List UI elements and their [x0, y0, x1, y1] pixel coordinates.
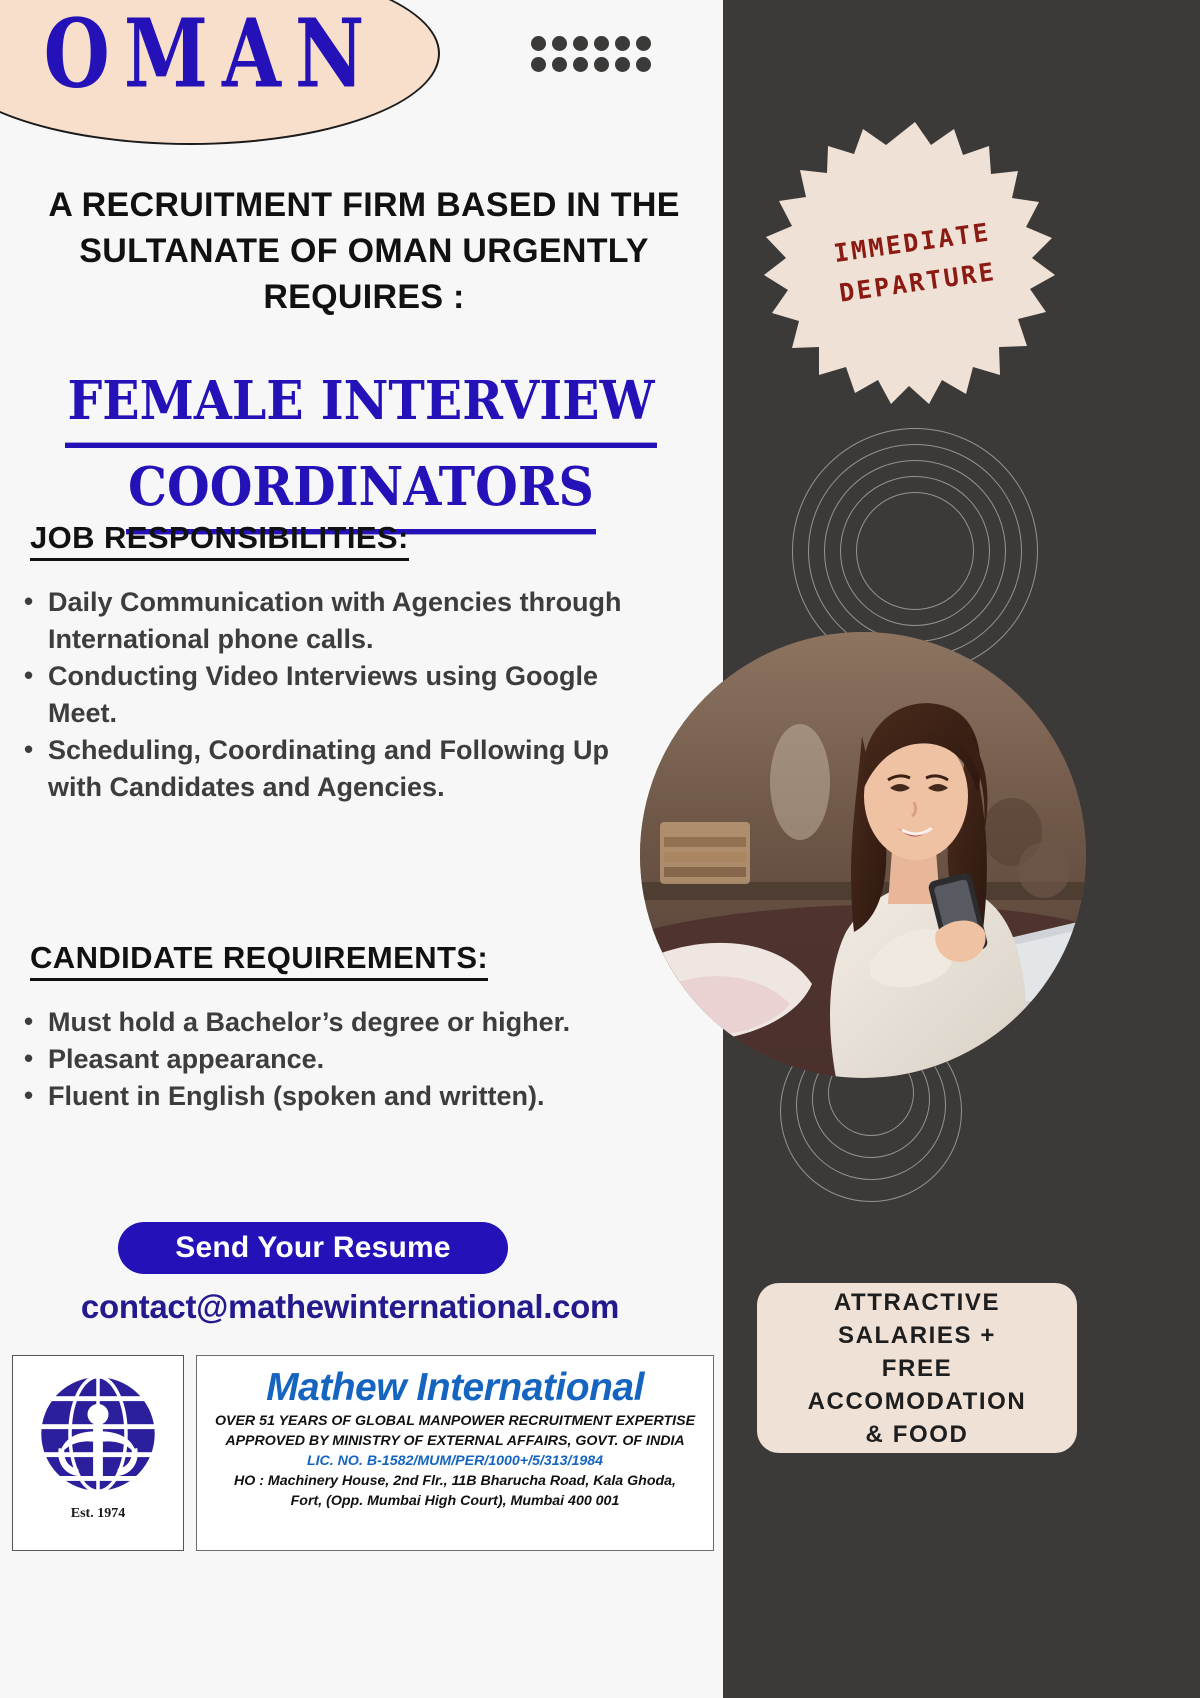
send-resume-button[interactable]: Send Your Resume	[118, 1222, 508, 1274]
list-item: Conducting Video Interviews using Google…	[20, 658, 640, 732]
list-item: Daily Communication with Agencies throug…	[20, 584, 640, 658]
dot	[636, 36, 651, 51]
salary-line-1: ATTRACTIVE	[808, 1286, 1027, 1319]
immediate-departure-text: IMMEDIATE DEPARTURE	[741, 98, 1088, 428]
immediate-departure-badge: IMMEDIATE DEPARTURE	[760, 118, 1070, 408]
requirements-list: Must hold a Bachelor’s degree or higher.…	[20, 1004, 640, 1115]
dot	[615, 36, 630, 51]
dot	[573, 36, 588, 51]
company-tagline: OVER 51 YEARS OF GLOBAL MANPOWER RECRUIT…	[197, 1411, 713, 1431]
dot	[531, 36, 546, 51]
dot	[615, 57, 630, 72]
dot	[531, 57, 546, 72]
list-item: Pleasant appearance.	[20, 1041, 640, 1078]
page-title: FEMALE INTERVIEW COORDINATORS	[16, 362, 706, 535]
dot	[594, 57, 609, 72]
dot	[594, 36, 609, 51]
company-info-box: Mathew International OVER 51 YEARS OF GL…	[196, 1355, 714, 1551]
responsibilities-list: Daily Communication with Agencies throug…	[20, 584, 640, 806]
responsibilities-heading: JOB RESPONSIBILITIES:	[30, 520, 409, 561]
list-item: Must hold a Bachelor’s degree or higher.	[20, 1004, 640, 1041]
country-badge-label: OMAN	[2, 0, 379, 109]
salary-line-3: FREE	[808, 1352, 1027, 1385]
company-address-line-2: Fort, (Opp. Mumbai High Court), Mumbai 4…	[197, 1491, 713, 1511]
intro-headline: A RECRUITMENT FIRM BASED IN THE SULTANAT…	[34, 182, 694, 320]
photo-illustration	[640, 632, 1086, 1078]
dot-grid-decoration	[531, 36, 657, 78]
contact-email[interactable]: contact@mathewinternational.com	[0, 1288, 700, 1326]
company-name: Mathew International	[197, 1365, 713, 1411]
dot	[573, 57, 588, 72]
job-title-line-1: FEMALE INTERVIEW	[65, 362, 656, 448]
salary-line-4: ACCOMODATION	[808, 1385, 1027, 1418]
dot	[636, 57, 651, 72]
list-item: Scheduling, Coordinating and Following U…	[20, 732, 640, 806]
salary-benefits-box: ATTRACTIVE SALARIES + FREE ACCOMODATION …	[757, 1283, 1077, 1453]
company-approval: APPROVED BY MINISTRY OF EXTERNAL AFFAIRS…	[197, 1431, 713, 1451]
dot	[552, 36, 567, 51]
company-address-line-1: HO : Machinery House, 2nd Flr., 11B Bhar…	[197, 1471, 713, 1491]
company-logo-box: Est. 1974	[12, 1355, 184, 1551]
dot	[552, 57, 567, 72]
salary-line-5: & FOOD	[808, 1418, 1027, 1451]
established-year-label: Est. 1974	[71, 1506, 125, 1522]
salary-line-2: SALARIES +	[808, 1319, 1027, 1352]
list-item: Fluent in English (spoken and written).	[20, 1078, 640, 1115]
requirements-heading: CANDIDATE REQUIREMENTS:	[30, 940, 488, 981]
candidate-photo	[640, 632, 1086, 1078]
globe-person-logo-icon	[28, 1364, 168, 1504]
poster-root: OMAN A RECRUITMENT FIRM BASED IN THE SUL…	[0, 0, 1200, 1698]
license-number: LIC. NO. B-1582/MUM/PER/1000+/5/313/1984	[197, 1451, 713, 1471]
